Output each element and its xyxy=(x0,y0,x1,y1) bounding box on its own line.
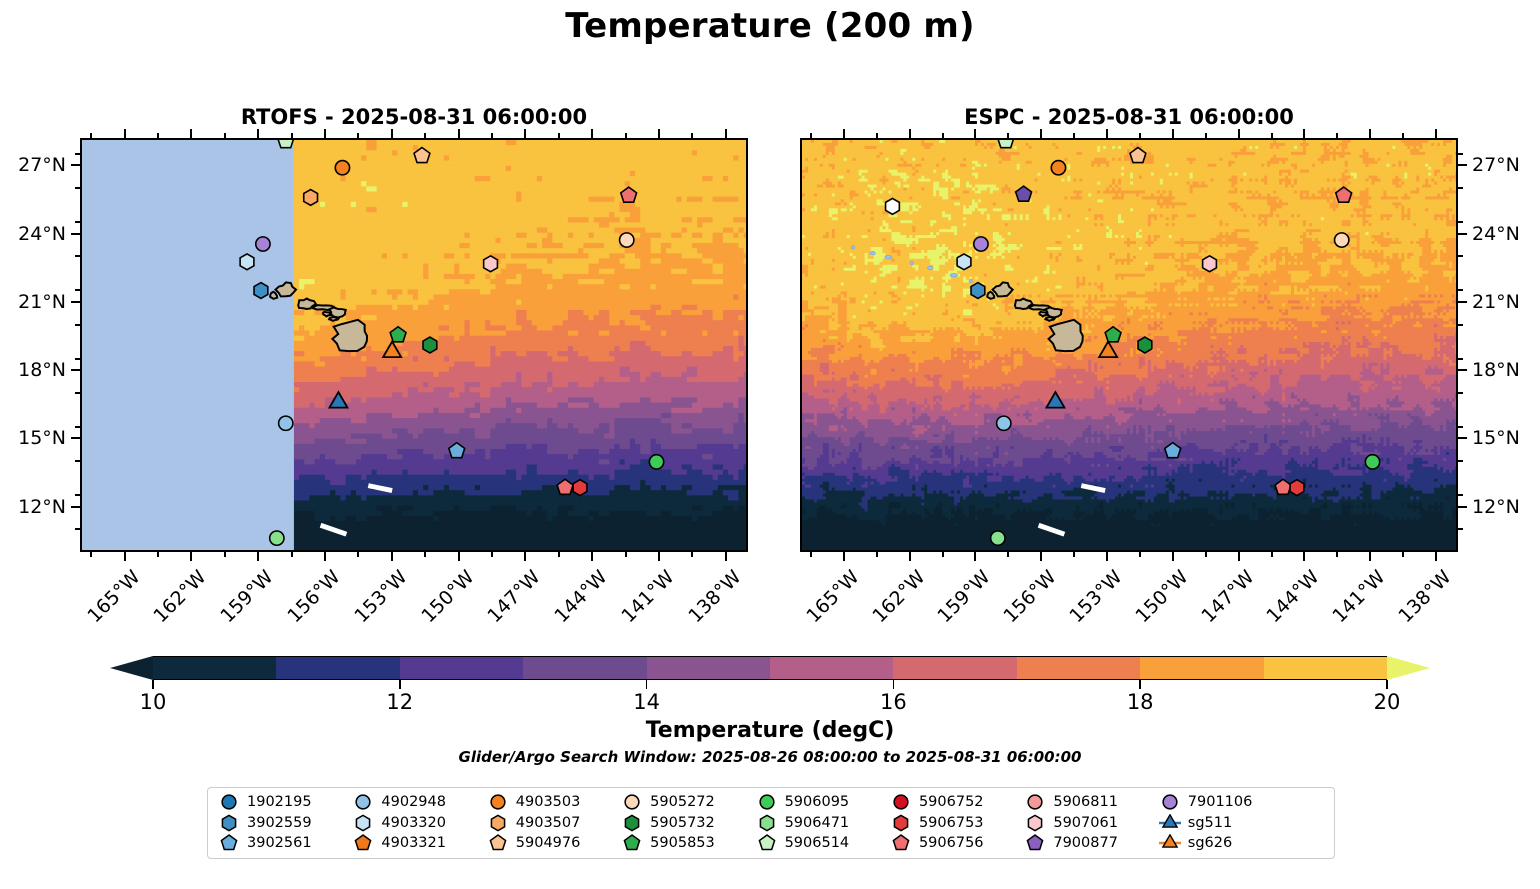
legend-marker-pentagon-icon xyxy=(1024,834,1046,852)
xtick-major xyxy=(190,552,192,561)
ytick-label: 21°N xyxy=(1472,291,1540,313)
xtick-major xyxy=(1435,129,1437,138)
legend-item[interactable]: sg511 xyxy=(1159,813,1283,833)
colorbar-gradient xyxy=(153,656,1387,680)
legend-label: 5906514 xyxy=(785,835,850,851)
colorbar[interactable] xyxy=(110,656,1430,680)
legend-marker-circle-icon xyxy=(890,793,912,811)
legend-marker-pentagon-icon xyxy=(621,834,643,852)
xtick-label: 156°W xyxy=(268,566,344,642)
ytick-minor xyxy=(75,289,80,291)
ytick-label: 21°N xyxy=(0,291,66,313)
legend-label: 4903321 xyxy=(381,835,446,851)
xtick-label: 141°W xyxy=(1313,566,1389,642)
xtick-minor xyxy=(625,552,627,557)
colorbar-tick xyxy=(1139,680,1141,689)
legend-label: 5907061 xyxy=(1053,815,1118,831)
xtick-minor xyxy=(1336,133,1338,138)
legend-label: 5906753 xyxy=(919,815,984,831)
legend-item[interactable]: 5906753 xyxy=(890,813,1014,833)
xtick-minor xyxy=(157,552,159,557)
xtick-major xyxy=(458,129,460,138)
legend-label: 4902948 xyxy=(381,794,446,810)
colorbar-band-8 xyxy=(1140,657,1263,679)
legend-label: sg511 xyxy=(1188,815,1232,831)
legend-marker-pentagon-icon xyxy=(218,834,240,852)
xtick-label: 162°W xyxy=(853,566,929,642)
legend-marker-hexagon-icon xyxy=(218,814,240,832)
xtick-major xyxy=(257,552,259,561)
legend-label: 5906095 xyxy=(785,794,850,810)
xtick-major xyxy=(524,129,526,138)
legend-item[interactable]: 3902559 xyxy=(218,813,342,833)
xtick-major xyxy=(974,552,976,561)
colorbar-band-7 xyxy=(1017,657,1140,679)
legend-label: 5906811 xyxy=(1053,794,1118,810)
xtick-minor xyxy=(1007,552,1009,557)
xtick-label: 144°W xyxy=(1248,566,1324,642)
xtick-major xyxy=(974,129,976,138)
xtick-major xyxy=(1435,552,1437,561)
colorbar-tick-label: 18 xyxy=(1127,690,1154,714)
xtick-major xyxy=(1172,552,1174,561)
xtick-minor xyxy=(90,133,92,138)
xtick-label: 138°W xyxy=(669,566,745,642)
ytick-label: 15°N xyxy=(0,427,66,449)
xtick-major xyxy=(124,552,126,561)
ytick-label: 12°N xyxy=(0,496,66,518)
legend-marker-triangle-icon xyxy=(1159,834,1181,852)
legend-marker-hexagon-icon xyxy=(487,814,509,832)
legend-label: 7901106 xyxy=(1188,794,1253,810)
xtick-minor xyxy=(1271,552,1273,557)
colorbar-tick-label: 16 xyxy=(880,690,907,714)
xtick-major xyxy=(1238,129,1240,138)
colorbar-band-4 xyxy=(647,657,770,679)
xtick-major xyxy=(658,129,660,138)
ytick-minor xyxy=(1458,358,1463,360)
xtick-minor xyxy=(810,133,812,138)
legend-marker-hexagon-icon xyxy=(756,814,778,832)
xtick-label: 159°W xyxy=(919,566,995,642)
colorbar-band-9 xyxy=(1264,657,1387,679)
legend-label: 5906756 xyxy=(919,835,984,851)
legend-label: 3902559 xyxy=(247,815,312,831)
colorbar-tick xyxy=(1386,680,1388,689)
xtick-label: 141°W xyxy=(602,566,678,642)
map-panel-rtofs[interactable] xyxy=(80,138,748,552)
ytick-minor xyxy=(1458,153,1463,155)
ytick-major xyxy=(1458,369,1467,371)
xtick-minor xyxy=(1205,552,1207,557)
xtick-major xyxy=(1303,129,1305,138)
xtick-label: 153°W xyxy=(1050,566,1126,642)
xtick-minor xyxy=(1139,552,1141,557)
legend-label: 5905732 xyxy=(650,815,715,831)
colorbar-tick-label: 10 xyxy=(140,690,167,714)
xtick-minor xyxy=(157,133,159,138)
xtick-minor xyxy=(491,552,493,557)
ytick-minor xyxy=(75,324,80,326)
ytick-minor xyxy=(75,187,80,189)
xtick-major xyxy=(725,129,727,138)
xtick-minor xyxy=(291,552,293,557)
legend-marker-hexagon-icon xyxy=(352,814,374,832)
xtick-minor xyxy=(1073,133,1075,138)
legend-marker-hexagon-icon xyxy=(890,814,912,832)
legend-item[interactable]: 5905272 xyxy=(621,792,745,812)
xtick-minor xyxy=(810,552,812,557)
xtick-minor xyxy=(691,133,693,138)
xtick-label: 153°W xyxy=(335,566,411,642)
xtick-major xyxy=(458,552,460,561)
figure-canvas: Temperature (200 m) RTOFS - 2025-08-31 0… xyxy=(0,0,1540,889)
colorbar-tick xyxy=(152,680,154,689)
xtick-major xyxy=(524,552,526,561)
ytick-minor xyxy=(1458,324,1463,326)
xtick-label: 159°W xyxy=(201,566,277,642)
xtick-minor xyxy=(224,552,226,557)
xtick-label: 150°W xyxy=(402,566,478,642)
xtick-minor xyxy=(1336,552,1338,557)
ytick-minor xyxy=(1458,187,1463,189)
legend-label: 5905853 xyxy=(650,835,715,851)
legend-item[interactable]: 5905732 xyxy=(621,813,745,833)
colorbar-band-5 xyxy=(770,657,893,679)
xtick-minor xyxy=(1205,133,1207,138)
ytick-major xyxy=(1458,437,1467,439)
legend-marker-circle-icon xyxy=(621,793,643,811)
xtick-minor xyxy=(691,552,693,557)
legend-label: 5906471 xyxy=(785,815,850,831)
legend-item[interactable]: 7901106 xyxy=(1159,792,1283,812)
legend-item[interactable]: 4903320 xyxy=(352,813,476,833)
colorbar-over-arrow xyxy=(1387,656,1430,680)
colorbar-band-0 xyxy=(153,657,276,679)
xtick-minor xyxy=(625,133,627,138)
ytick-major xyxy=(71,506,80,508)
ytick-major xyxy=(71,369,80,371)
ytick-minor xyxy=(75,392,80,394)
legend-item[interactable]: 5906095 xyxy=(756,792,880,812)
xtick-minor xyxy=(942,133,944,138)
xtick-minor xyxy=(1402,552,1404,557)
search-window-caption: Glider/Argo Search Window: 2025-08-26 08… xyxy=(0,748,1540,766)
page-title: Temperature (200 m) xyxy=(0,6,1540,46)
xtick-major xyxy=(909,552,911,561)
ytick-label: 15°N xyxy=(1472,427,1540,449)
xtick-major xyxy=(1369,129,1371,138)
xtick-label: 165°W xyxy=(787,566,863,642)
ytick-label: 24°N xyxy=(0,223,66,245)
legend-item[interactable]: 3902561 xyxy=(218,833,342,853)
xtick-major xyxy=(1303,552,1305,561)
ytick-minor xyxy=(1458,221,1463,223)
ytick-minor xyxy=(75,153,80,155)
xtick-major xyxy=(257,129,259,138)
ytick-minor xyxy=(1458,426,1463,428)
ytick-label: 24°N xyxy=(1472,223,1540,245)
colorbar-axis-label: Temperature (degC) xyxy=(0,718,1540,743)
xtick-label: 156°W xyxy=(984,566,1060,642)
ytick-minor xyxy=(1458,392,1463,394)
legend-label: 5904976 xyxy=(516,835,581,851)
marker-overlay-rtofs xyxy=(82,140,746,550)
xtick-major xyxy=(324,129,326,138)
xtick-major xyxy=(1040,129,1042,138)
colorbar-tick xyxy=(399,680,401,689)
xtick-label: 147°W xyxy=(469,566,545,642)
legend-marker-circle-icon xyxy=(218,793,240,811)
ytick-minor xyxy=(75,358,80,360)
colorbar-tick-label: 12 xyxy=(386,690,413,714)
xtick-label: 144°W xyxy=(535,566,611,642)
xtick-minor xyxy=(224,133,226,138)
xtick-minor xyxy=(291,133,293,138)
xtick-label: 162°W xyxy=(135,566,211,642)
xtick-major xyxy=(1106,552,1108,561)
legend-marker-pentagon-icon xyxy=(352,834,374,852)
legend-item[interactable]: 7900877 xyxy=(1024,833,1148,853)
colorbar-band-2 xyxy=(400,657,523,679)
map-panel-espc[interactable] xyxy=(800,138,1458,552)
xtick-major xyxy=(1238,552,1240,561)
legend-label: 5905272 xyxy=(650,794,715,810)
legend-marker-hexagon-icon xyxy=(621,814,643,832)
legend-item[interactable]: 4903321 xyxy=(352,833,476,853)
xtick-minor xyxy=(1271,133,1273,138)
legend-item[interactable]: 5906811 xyxy=(1024,792,1148,812)
legend-marker-circle-icon xyxy=(756,793,778,811)
legend-item[interactable]: 4902948 xyxy=(352,792,476,812)
legend-marker-circle-icon xyxy=(487,793,509,811)
legend-marker-circle-icon xyxy=(352,793,374,811)
xtick-label: 165°W xyxy=(68,566,144,642)
xtick-major xyxy=(124,129,126,138)
legend-item[interactable]: 5905853 xyxy=(621,833,745,853)
ytick-minor xyxy=(1458,255,1463,257)
xtick-major xyxy=(1040,552,1042,561)
ytick-minor xyxy=(75,221,80,223)
legend-label: 3902561 xyxy=(247,835,312,851)
xtick-major xyxy=(725,552,727,561)
legend-label: 1902195 xyxy=(247,794,312,810)
xtick-minor xyxy=(942,552,944,557)
panel-title-espc: ESPC - 2025-08-31 06:00:00 xyxy=(800,105,1458,129)
colorbar-band-1 xyxy=(276,657,399,679)
ytick-minor xyxy=(1458,528,1463,530)
xtick-minor xyxy=(558,552,560,557)
xtick-major xyxy=(843,552,845,561)
xtick-label: 147°W xyxy=(1182,566,1258,642)
xtick-minor xyxy=(90,552,92,557)
legend-item[interactable]: 5906471 xyxy=(756,813,880,833)
ytick-major xyxy=(1458,301,1467,303)
ytick-minor xyxy=(75,460,80,462)
legend-label: 4903507 xyxy=(516,815,581,831)
xtick-major xyxy=(1106,129,1108,138)
ytick-minor xyxy=(1458,289,1463,291)
ytick-minor xyxy=(75,426,80,428)
xtick-major xyxy=(591,552,593,561)
xtick-minor xyxy=(1007,133,1009,138)
legend-item[interactable]: 5906756 xyxy=(890,833,1014,853)
colorbar-band-6 xyxy=(893,657,1016,679)
panel-title-rtofs: RTOFS - 2025-08-31 06:00:00 xyxy=(80,105,748,129)
ytick-major xyxy=(71,301,80,303)
xtick-label: 138°W xyxy=(1379,566,1455,642)
ytick-label: 18°N xyxy=(0,359,66,381)
legend-item[interactable]: 5906752 xyxy=(890,792,1014,812)
xtick-minor xyxy=(558,133,560,138)
xtick-major xyxy=(391,552,393,561)
xtick-major xyxy=(843,129,845,138)
xtick-minor xyxy=(491,133,493,138)
xtick-minor xyxy=(357,133,359,138)
legend[interactable]: 1902195390255939025614902948490332049033… xyxy=(207,787,1335,859)
legend-label: 7900877 xyxy=(1053,835,1118,851)
legend-item[interactable]: 5907061 xyxy=(1024,813,1148,833)
legend-label: 5906752 xyxy=(919,794,984,810)
legend-item[interactable]: 4903503 xyxy=(487,792,611,812)
colorbar-under-arrow xyxy=(110,656,153,680)
xtick-minor xyxy=(876,133,878,138)
legend-marker-pentagon-icon xyxy=(890,834,912,852)
xtick-major xyxy=(190,129,192,138)
legend-item[interactable]: 5904976 xyxy=(487,833,611,853)
legend-item[interactable]: 1902195 xyxy=(218,792,342,812)
ytick-minor xyxy=(75,528,80,530)
ytick-major xyxy=(71,437,80,439)
legend-item[interactable]: sg626 xyxy=(1159,833,1283,853)
xtick-major xyxy=(658,552,660,561)
legend-marker-pentagon-icon xyxy=(756,834,778,852)
ytick-minor xyxy=(1458,494,1463,496)
xtick-label: 150°W xyxy=(1116,566,1192,642)
xtick-major xyxy=(1369,552,1371,561)
xtick-minor xyxy=(876,552,878,557)
colorbar-band-3 xyxy=(523,657,646,679)
colorbar-tick xyxy=(646,680,648,689)
legend-label: sg626 xyxy=(1188,835,1232,851)
ytick-label: 18°N xyxy=(1472,359,1540,381)
ytick-major xyxy=(1458,164,1467,166)
legend-marker-circle-icon xyxy=(1159,793,1181,811)
legend-item[interactable]: 4903507 xyxy=(487,813,611,833)
legend-item[interactable]: 5906514 xyxy=(756,833,880,853)
xtick-minor xyxy=(357,552,359,557)
xtick-minor xyxy=(424,552,426,557)
marker-overlay-espc xyxy=(802,140,1456,550)
xtick-major xyxy=(591,129,593,138)
ytick-label: 27°N xyxy=(1472,154,1540,176)
ytick-major xyxy=(71,233,80,235)
ytick-label: 27°N xyxy=(0,154,66,176)
xtick-major xyxy=(1172,129,1174,138)
ytick-major xyxy=(1458,506,1467,508)
xtick-minor xyxy=(1073,552,1075,557)
xtick-minor xyxy=(1402,133,1404,138)
legend-marker-circle-icon xyxy=(1024,793,1046,811)
xtick-major xyxy=(324,552,326,561)
xtick-minor xyxy=(1139,133,1141,138)
legend-marker-pentagon-icon xyxy=(487,834,509,852)
ytick-minor xyxy=(75,494,80,496)
xtick-minor xyxy=(424,133,426,138)
xtick-major xyxy=(909,129,911,138)
colorbar-tick-label: 20 xyxy=(1374,690,1401,714)
ytick-major xyxy=(1458,233,1467,235)
xtick-major xyxy=(391,129,393,138)
legend-marker-hexagon-icon xyxy=(1024,814,1046,832)
legend-label: 4903320 xyxy=(381,815,446,831)
legend-label: 4903503 xyxy=(516,794,581,810)
colorbar-tick-label: 14 xyxy=(633,690,660,714)
ytick-minor xyxy=(1458,460,1463,462)
colorbar-tick xyxy=(893,680,895,689)
ytick-major xyxy=(71,164,80,166)
legend-marker-triangle-icon xyxy=(1159,814,1181,832)
ytick-minor xyxy=(75,255,80,257)
ytick-label: 12°N xyxy=(1472,496,1540,518)
